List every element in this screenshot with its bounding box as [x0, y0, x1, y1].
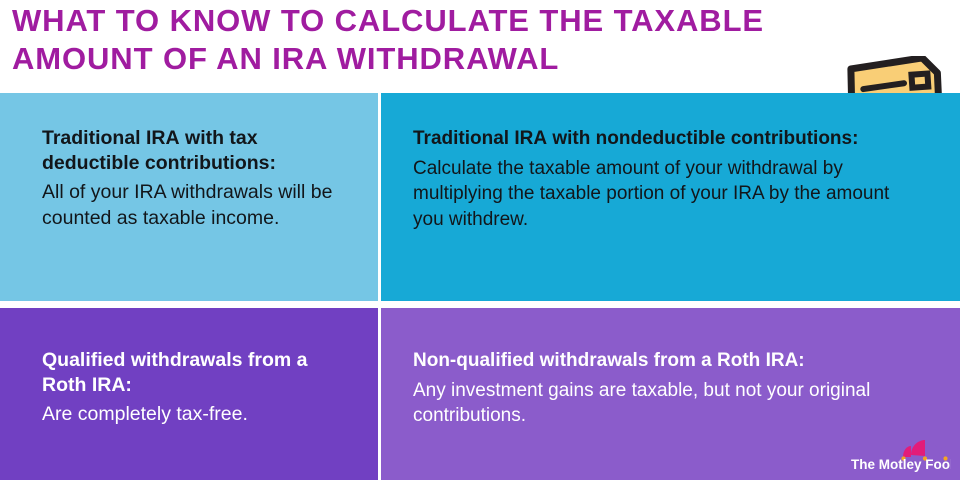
- title-bar: What to know to calculate the taxable am…: [0, 0, 960, 93]
- panel-body: Any investment gains are taxable, but no…: [413, 378, 933, 429]
- page-title: What to know to calculate the taxable am…: [12, 2, 842, 78]
- panel-heading-rest: Qualified withdrawals from a: [42, 349, 307, 371]
- panel-heading: Traditional IRA with tax deductible cont…: [42, 126, 342, 176]
- panel-content: Traditional IRA with nondeductible contr…: [413, 126, 893, 232]
- infographic-root: What to know to calculate the taxable am…: [0, 0, 960, 480]
- panel-traditional-nondeductible: Traditional IRA with nondeductible contr…: [381, 93, 960, 301]
- panel-content: Traditional IRA with tax deductible cont…: [42, 126, 342, 231]
- panel-traditional-deductible: Traditional IRA with tax deductible cont…: [0, 93, 378, 301]
- panel-content: Non-qualified withdrawals from a Roth IR…: [413, 348, 933, 429]
- panel-body: Calculate the taxable amount of your wit…: [413, 156, 893, 233]
- panel-heading-strong: Traditional IRA: [413, 128, 547, 149]
- panel-heading: Qualified withdrawals from a Roth IRA:: [42, 348, 352, 398]
- panel-heading-strong: Roth IRA:: [717, 350, 805, 371]
- logo-wordmark: The Motley Fool.: [851, 457, 951, 472]
- panel-heading-strong: Traditional IRA: [42, 127, 180, 149]
- panel-heading: Non-qualified withdrawals from a Roth IR…: [413, 348, 933, 374]
- panel-heading: Traditional IRA with nondeductible contr…: [413, 126, 893, 152]
- panel-content: Qualified withdrawals from a Roth IRA: A…: [42, 348, 352, 428]
- panel-heading-strong: Roth IRA:: [42, 374, 132, 396]
- panel-body: Are completely tax-free.: [42, 402, 352, 428]
- panel-roth-qualified: Qualified withdrawals from a Roth IRA: A…: [0, 308, 378, 480]
- panel-heading-rest: with nondeductible contributions:: [547, 128, 858, 149]
- motley-fool-logo: The Motley Fool.: [851, 437, 951, 473]
- panel-body: All of your IRA withdrawals will be coun…: [42, 180, 342, 231]
- panel-heading-rest: Non-qualified withdrawals from a: [413, 350, 717, 371]
